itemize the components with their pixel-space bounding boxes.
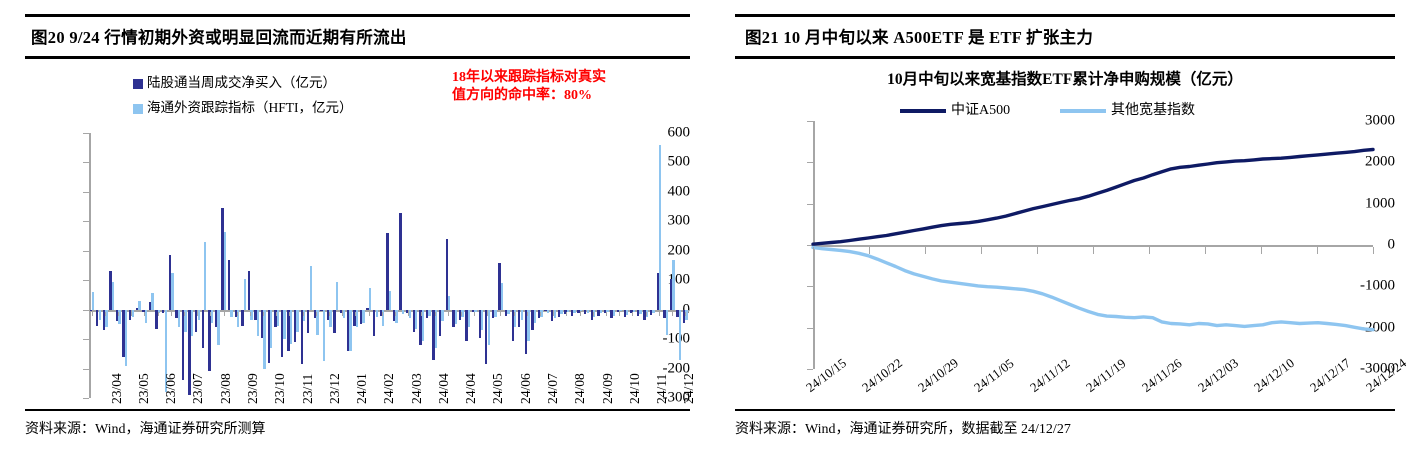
x-minor-tick — [118, 312, 119, 316]
etf-net-subscription-line-chart: 10月中旬以来宽基指数ETF累计净申购规模（亿元） 中证A500 其他宽基指数 … — [735, 59, 1395, 409]
bar — [613, 310, 615, 316]
bar — [521, 310, 523, 320]
y-tick-label: 500 — [636, 154, 690, 171]
x-tick-label: 24/07 — [545, 373, 561, 404]
x-minor-tick — [553, 312, 554, 316]
legend-swatch-northbound — [133, 79, 143, 89]
legend-item-hfti: 海通外资跟踪指标（HFTI，亿元） — [133, 96, 353, 116]
bar — [626, 310, 628, 315]
bar — [169, 255, 171, 309]
bar — [518, 310, 520, 328]
bar — [125, 310, 127, 366]
x-minor-tick — [237, 312, 238, 316]
y-tick-label: 600 — [636, 125, 690, 142]
bar — [254, 310, 256, 320]
bar — [485, 310, 487, 364]
bar — [268, 310, 270, 363]
x-minor-tick — [263, 312, 264, 316]
bar — [479, 310, 481, 338]
bar — [347, 310, 349, 351]
figure-20-source: 资料来源：Wind，海通证券研究所测算 — [25, 409, 690, 438]
bar — [208, 310, 210, 372]
x-tick-label: 24/12 — [681, 373, 697, 404]
figure-panel-20: 图20 9/24 行情初期外资或明显回流而近期有所流出 陆股通当周成交净买入（亿… — [0, 0, 710, 475]
bar — [369, 288, 371, 310]
x-minor-tick — [606, 312, 607, 316]
x-minor-tick — [672, 312, 673, 316]
x-minor-tick — [289, 312, 290, 316]
y-tick-label: 100 — [636, 272, 690, 289]
x-minor-tick — [527, 312, 528, 316]
bar — [307, 310, 309, 334]
x-minor-tick — [659, 312, 660, 316]
x-minor-tick — [342, 312, 343, 316]
x-minor-tick — [382, 312, 383, 316]
x-tick-label: 23/12 — [327, 373, 343, 404]
x-tick-label: 24/06 — [518, 373, 534, 404]
x-minor-tick — [329, 312, 330, 316]
bar — [333, 310, 335, 334]
bar — [428, 310, 430, 316]
x-tick-mark — [1037, 247, 1038, 254]
x-minor-tick — [619, 312, 620, 316]
bar — [505, 310, 507, 316]
bar — [465, 310, 467, 341]
x-minor-tick — [540, 312, 541, 316]
bar — [92, 292, 94, 310]
bar — [507, 310, 509, 314]
bar — [373, 310, 375, 337]
x-tick-mark — [981, 247, 982, 254]
bar — [204, 242, 206, 310]
bar — [659, 145, 661, 310]
x-tick-label: 24/11 — [654, 374, 670, 404]
bar — [376, 310, 378, 317]
x-tick-label: 24/01 — [354, 373, 370, 404]
x-tick-mark — [813, 247, 814, 254]
bar — [138, 301, 140, 310]
bar — [191, 310, 193, 337]
bar — [270, 310, 272, 348]
x-tick-label: 23/06 — [163, 373, 179, 404]
x-minor-tick — [593, 312, 594, 316]
bar — [281, 310, 283, 357]
x-minor-tick — [421, 312, 422, 316]
bar — [481, 310, 483, 331]
bar — [294, 310, 296, 342]
x-minor-tick — [646, 312, 647, 316]
x-minor-tick — [92, 312, 93, 316]
bar — [501, 283, 503, 310]
figure-21-source: 资料来源：Wind，海通证券研究所，数据截至 24/12/27 — [735, 409, 1395, 438]
x-minor-tick — [369, 312, 370, 316]
bar — [666, 310, 668, 335]
bar — [221, 208, 223, 310]
x-minor-tick — [355, 312, 356, 316]
x-tick-label: 24/10 — [627, 373, 643, 404]
bar — [136, 308, 138, 309]
bar — [525, 310, 527, 354]
bar — [441, 310, 443, 322]
figure-panel-21: 图21 10 月中旬以来 A500ETF 是 ETF 扩张主力 10月中旬以来宽… — [710, 0, 1415, 475]
x-tick-label: 24/05 — [490, 373, 506, 404]
x-minor-tick — [250, 312, 251, 316]
x-minor-tick — [131, 312, 132, 316]
x-minor-tick — [566, 312, 567, 316]
x-tick-label: 24/04 — [436, 373, 452, 404]
x-tick-label: 23/05 — [136, 373, 152, 404]
y-tick-label: 300 — [636, 213, 690, 230]
bar — [217, 310, 219, 345]
figure-20-header: 图20 9/24 行情初期外资或明显回流而近期有所流出 — [25, 14, 690, 59]
bar — [413, 310, 415, 332]
x-tick-mark — [869, 247, 870, 254]
x-minor-tick — [500, 312, 501, 316]
bar — [399, 213, 401, 310]
bar — [389, 291, 391, 310]
bar — [676, 310, 678, 317]
bar — [244, 279, 246, 310]
x-minor-tick — [224, 312, 225, 316]
bar — [215, 310, 217, 328]
y-tick-label: -100 — [636, 331, 690, 348]
bar — [230, 310, 232, 317]
bar — [96, 310, 98, 326]
bar — [637, 310, 639, 316]
bar — [584, 310, 586, 314]
bar — [175, 310, 177, 319]
bar — [162, 310, 164, 313]
bar — [402, 310, 404, 314]
bar — [672, 260, 674, 310]
bar — [652, 310, 654, 314]
x-tick-label: 24/09 — [600, 373, 616, 404]
x-minor-tick — [448, 312, 449, 316]
bar — [426, 310, 428, 319]
x-tick-label: 24/08 — [572, 373, 588, 404]
x-minor-tick — [474, 312, 475, 316]
x-minor-tick — [408, 312, 409, 316]
x-tick-mark — [1317, 247, 1318, 254]
bar — [99, 310, 101, 320]
bar — [587, 310, 589, 313]
bar — [178, 310, 180, 328]
bar — [571, 310, 573, 316]
bar — [624, 310, 626, 317]
bar — [366, 308, 368, 309]
x-minor-tick — [144, 312, 145, 316]
bar — [558, 310, 560, 317]
bar — [360, 310, 362, 325]
x-minor-tick — [461, 312, 462, 316]
bar — [241, 310, 243, 326]
x-minor-tick — [685, 312, 686, 316]
y-axis-spine — [89, 133, 91, 398]
bar — [468, 310, 470, 328]
x-minor-tick — [105, 312, 106, 316]
bar — [283, 310, 285, 339]
bar — [498, 263, 500, 310]
bar — [320, 310, 322, 311]
bar — [494, 310, 496, 317]
bar — [228, 260, 230, 310]
x-tick-mark — [925, 247, 926, 254]
x-minor-tick — [184, 312, 185, 316]
hit-rate-annotation: 18年以来跟踪指标对真实值方向的命中率：80% — [452, 69, 606, 104]
bar — [122, 310, 124, 357]
x-tick-mark — [1373, 247, 1374, 254]
line-series — [813, 150, 1373, 245]
bar — [171, 273, 173, 310]
x-tick-label: 24/03 — [409, 373, 425, 404]
bar — [112, 282, 114, 310]
x-minor-tick — [514, 312, 515, 316]
bar — [287, 310, 289, 351]
bar — [670, 279, 672, 310]
figure-21-header: 图21 10 月中旬以来 A500ETF 是 ETF 扩张主力 — [735, 14, 1395, 59]
bar — [109, 271, 111, 309]
bar — [452, 310, 454, 328]
bar — [597, 310, 599, 316]
legend-item-northbound: 陆股通当周成交净买入（亿元） — [133, 71, 336, 91]
x-tick-label: 23/08 — [218, 373, 234, 404]
x-tick-mark — [1149, 247, 1150, 254]
legend-swatch-hfti — [133, 104, 143, 114]
figure-pair-page: 图20 9/24 行情初期外资或明显回流而近期有所流出 陆股通当周成交净买入（亿… — [0, 0, 1415, 475]
x-tick-label: 23/07 — [190, 373, 206, 404]
bar — [151, 293, 153, 309]
x-tick-mark — [1093, 247, 1094, 254]
bar — [224, 232, 226, 310]
x-minor-tick — [303, 312, 304, 316]
x-minor-tick — [316, 312, 317, 316]
bar — [547, 310, 549, 313]
x-minor-tick — [487, 312, 488, 316]
bar — [663, 310, 665, 319]
bar — [257, 310, 259, 337]
bar — [455, 310, 457, 325]
bar — [639, 310, 641, 314]
x-minor-tick — [632, 312, 633, 316]
bar — [679, 310, 681, 360]
bar — [610, 310, 612, 319]
x-minor-tick — [276, 312, 277, 316]
y-tick-label: 400 — [636, 183, 690, 200]
bar — [657, 273, 659, 310]
x-tick-mark — [1205, 247, 1206, 254]
bar — [301, 310, 303, 364]
line-series — [813, 248, 1373, 330]
bar — [263, 310, 265, 369]
bar — [248, 271, 250, 309]
x-minor-tick — [171, 312, 172, 316]
bar — [432, 310, 434, 360]
bar — [448, 296, 450, 309]
bar — [336, 282, 338, 310]
bar — [446, 239, 448, 310]
x-minor-tick — [395, 312, 396, 316]
y-tick-mark — [83, 398, 89, 399]
x-minor-tick — [197, 312, 198, 316]
x-minor-tick — [210, 312, 211, 316]
bar — [386, 233, 388, 310]
bar — [650, 310, 652, 315]
x-tick-label: 24/04 — [463, 373, 479, 404]
bar — [362, 310, 364, 323]
bar — [415, 310, 417, 329]
bar — [202, 310, 204, 348]
bar — [349, 310, 351, 351]
bar — [492, 310, 494, 319]
bar — [573, 310, 575, 314]
x-tick-label: 23/10 — [272, 373, 288, 404]
x-tick-label: 23/09 — [245, 373, 261, 404]
bar — [600, 310, 602, 314]
bar — [560, 310, 562, 314]
bar — [90, 310, 92, 311]
x-tick-label: 23/04 — [109, 373, 125, 404]
bar — [544, 310, 546, 311]
y-tick-label: 200 — [636, 242, 690, 259]
x-tick-label: 24/02 — [381, 373, 397, 404]
foreign-capital-bar-chart: 陆股通当周成交净买入（亿元） 海通外资跟踪指标（HFTI，亿元） 18年以来跟踪… — [25, 59, 690, 409]
x-minor-tick — [435, 312, 436, 316]
x-tick-label: 23/11 — [300, 374, 316, 404]
x-minor-tick — [580, 312, 581, 316]
bar — [531, 310, 533, 331]
x-minor-tick — [158, 312, 159, 316]
bar — [323, 310, 325, 362]
bar — [439, 310, 441, 337]
bar — [310, 266, 312, 310]
bar — [182, 310, 184, 381]
x-tick-mark — [1261, 247, 1262, 254]
bar — [534, 310, 536, 323]
bar — [296, 310, 298, 332]
bar — [149, 302, 151, 309]
